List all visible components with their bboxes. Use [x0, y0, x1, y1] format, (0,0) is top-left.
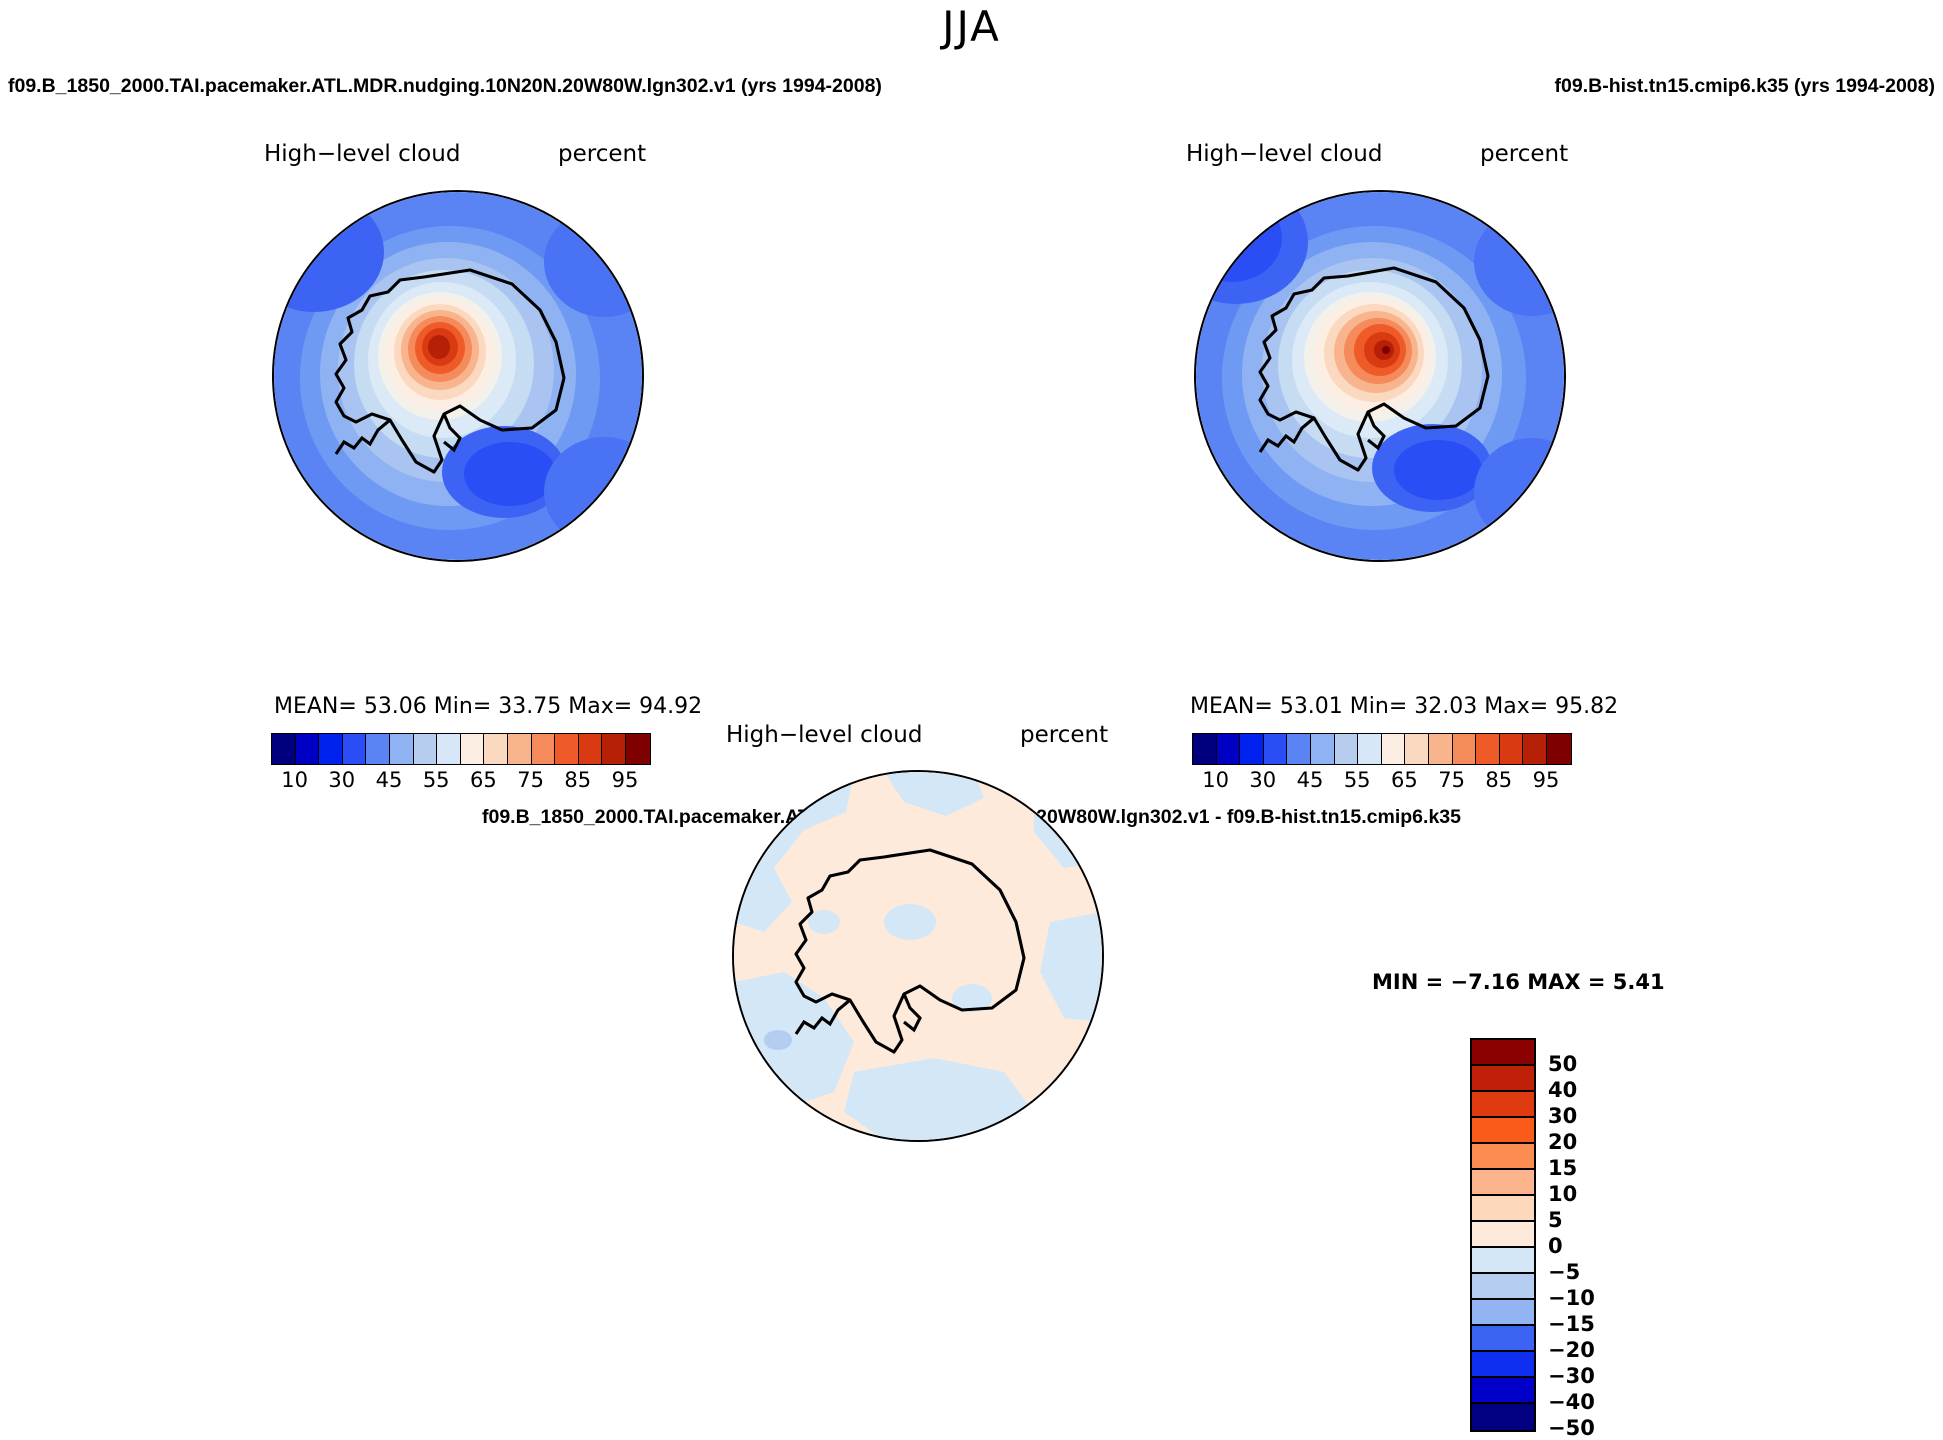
right-cbar-tick-3: 55 — [1344, 768, 1371, 792]
right-units-label: percent — [1480, 141, 1568, 167]
diff-cbar-tick-6: 5 — [1548, 1208, 1563, 1232]
right-globe — [1194, 190, 1566, 562]
diff-globe — [732, 770, 1104, 1142]
right-cbar-tick-2: 45 — [1297, 768, 1324, 792]
season-title: JJA — [0, 2, 1943, 51]
left-cbar-tick-1: 30 — [328, 768, 355, 792]
left-cbar-tick-4: 65 — [470, 768, 497, 792]
diff-cbar-tick-11: −20 — [1548, 1338, 1595, 1362]
diff-cbar-tick-7: 0 — [1548, 1234, 1563, 1258]
diff-cbar-tick-5: 10 — [1548, 1182, 1577, 1206]
right-panel-title: f09.B-hist.tn15.cmip6.k35 (yrs 1994-2008… — [1555, 75, 1935, 98]
left-panel-title: f09.B_1850_2000.TAI.pacemaker.ATL.MDR.nu… — [8, 75, 882, 98]
diff-cbar-tick-3: 20 — [1548, 1130, 1577, 1154]
left-colorbar — [271, 733, 651, 765]
diff-cbar-tick-0: 50 — [1548, 1052, 1577, 1076]
diff-cbar-tick-1: 40 — [1548, 1078, 1577, 1102]
diff-colorbar — [1470, 1038, 1536, 1432]
right-cbar-tick-4: 65 — [1391, 768, 1418, 792]
diff-minmax: MIN = −7.16 MAX = 5.41 — [1372, 970, 1665, 994]
diff-variable-label: High−level cloud — [726, 722, 922, 748]
right-stats: MEAN= 53.01 Min= 32.03 Max= 95.82 — [1190, 694, 1618, 719]
right-map-contours — [1196, 192, 1564, 560]
right-cbar-tick-1: 30 — [1249, 768, 1276, 792]
diff-cbar-tick-9: −10 — [1548, 1286, 1595, 1310]
diff-cbar-tick-12: −30 — [1548, 1364, 1595, 1388]
diff-cbar-tick-10: −15 — [1548, 1312, 1595, 1336]
right-cbar-tick-0: 10 — [1202, 768, 1229, 792]
left-cbar-tick-0: 10 — [281, 768, 308, 792]
left-cbar-tick-2: 45 — [376, 768, 403, 792]
diff-cbar-tick-13: −40 — [1548, 1390, 1595, 1414]
diff-cbar-tick-8: −5 — [1548, 1260, 1580, 1284]
left-cbar-tick-6: 85 — [564, 768, 591, 792]
right-variable-label: High−level cloud — [1186, 141, 1382, 167]
left-cbar-tick-5: 75 — [517, 768, 544, 792]
right-cbar-tick-7: 95 — [1533, 768, 1560, 792]
diff-cbar-tick-14: −50 — [1548, 1416, 1595, 1440]
right-cbar-tick-5: 75 — [1438, 768, 1465, 792]
left-globe — [272, 190, 644, 562]
right-cbar-tick-6: 85 — [1485, 768, 1512, 792]
left-map-contours — [274, 192, 642, 560]
right-colorbar-labels: 10 30 45 55 65 75 85 95 — [1192, 768, 1570, 794]
right-colorbar — [1192, 733, 1572, 765]
left-units-label: percent — [558, 141, 646, 167]
diff-cbar-tick-4: 15 — [1548, 1156, 1577, 1180]
diff-units-label: percent — [1020, 722, 1108, 748]
left-stats: MEAN= 53.06 Min= 33.75 Max= 94.92 — [274, 694, 702, 719]
left-colorbar-labels: 10 30 45 55 65 75 85 95 — [271, 768, 649, 794]
left-cbar-tick-3: 55 — [423, 768, 450, 792]
diff-map-contours — [734, 772, 1102, 1140]
left-variable-label: High−level cloud — [264, 141, 460, 167]
left-cbar-tick-7: 95 — [612, 768, 639, 792]
diff-cbar-tick-2: 30 — [1548, 1104, 1577, 1128]
